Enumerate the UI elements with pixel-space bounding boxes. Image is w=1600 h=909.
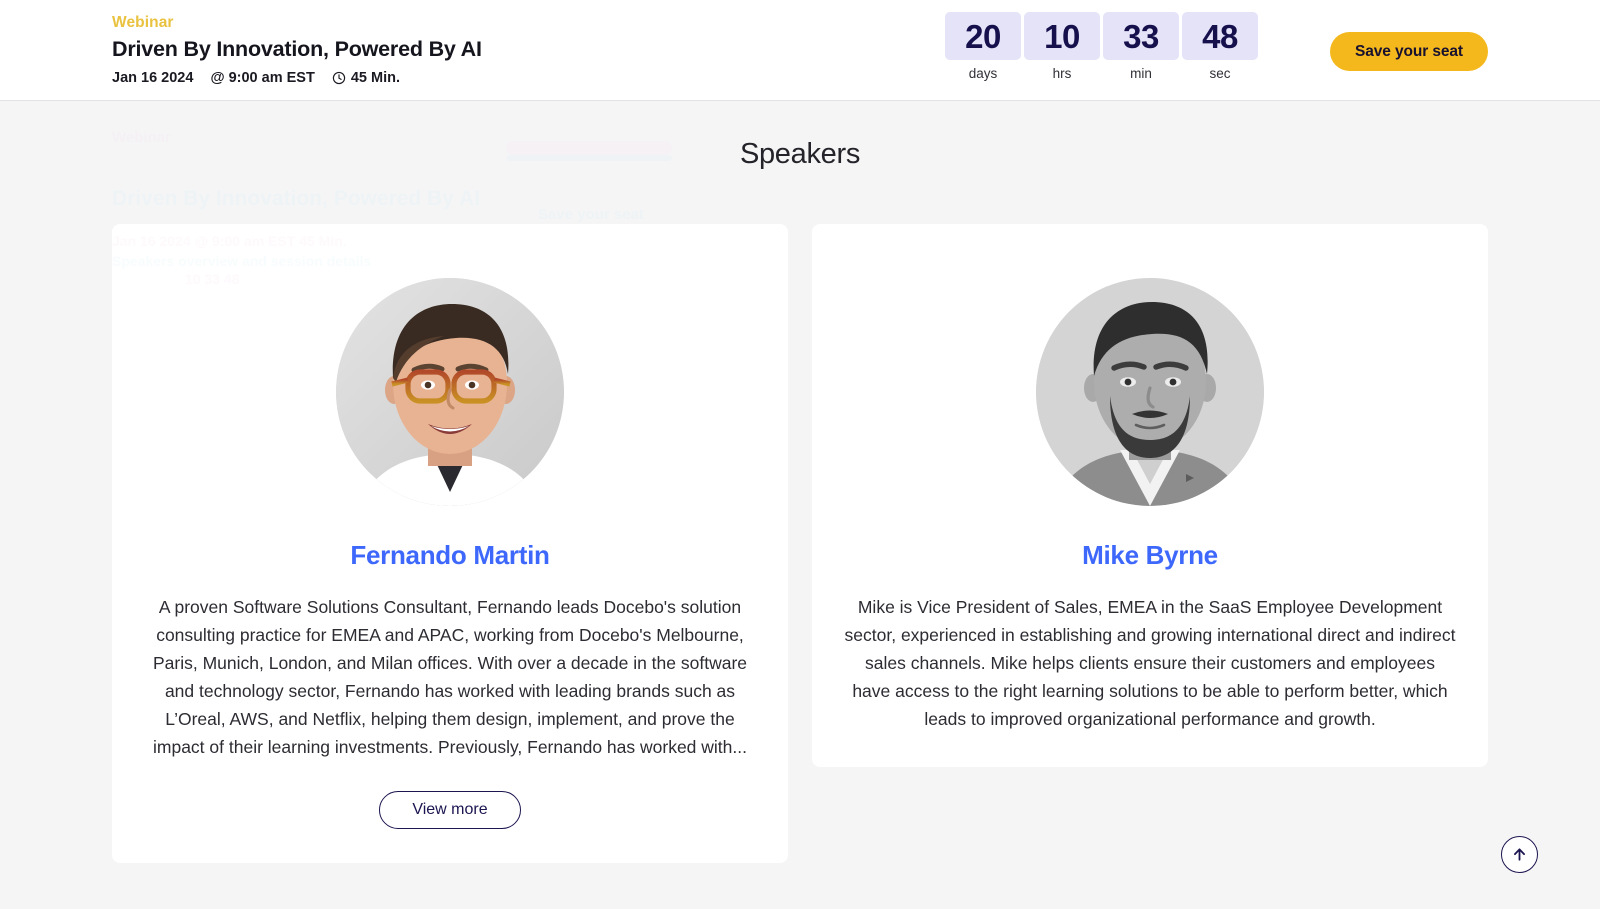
- view-more-button-fernando-martin[interactable]: View more: [379, 791, 520, 829]
- ghost-text-0: Driven By Innovation, Powered By AI: [112, 187, 480, 211]
- speaker-name-fernando-martin: Fernando Martin: [350, 540, 549, 571]
- page-header: Webinar Driven By Innovation, Powered By…: [0, 0, 1600, 101]
- webinar-duration-text: 45 Min.: [351, 70, 400, 86]
- save-your-seat-button[interactable]: Save your seat: [1330, 32, 1488, 71]
- scroll-to-top-button[interactable]: [1501, 836, 1538, 873]
- webinar-time-text: @ 9:00 am EST: [210, 70, 314, 86]
- speaker-photo-mike-byrne: [1036, 278, 1264, 506]
- speaker-card-fernando-martin: Fernando Martin A proven Software Soluti…: [112, 224, 788, 863]
- countdown-min-value: 33: [1103, 12, 1179, 60]
- webinar-info: Webinar Driven By Innovation, Powered By…: [112, 13, 482, 86]
- clock-icon: [332, 71, 346, 85]
- countdown-unit-hrs: 10 hrs: [1024, 12, 1100, 81]
- speakers-card-grid: Fernando Martin A proven Software Soluti…: [112, 224, 1488, 863]
- countdown-unit-min: 33 min: [1103, 12, 1179, 81]
- countdown-sec-label: sec: [1209, 67, 1230, 81]
- countdown-unit-days: 20 days: [945, 12, 1021, 81]
- speaker-bio-mike-byrne: Mike is Vice President of Sales, EMEA in…: [844, 593, 1456, 733]
- speaker-bio-fernando-martin: A proven Software Solutions Consultant, …: [144, 593, 756, 761]
- webinar-duration: 45 Min.: [332, 70, 400, 86]
- countdown-min-label: min: [1130, 67, 1152, 81]
- speaker-name-mike-byrne: Mike Byrne: [1082, 540, 1218, 571]
- page-title: Driven By Innovation, Powered By AI: [112, 35, 482, 64]
- section-title-speakers: Speakers: [0, 138, 1600, 171]
- countdown-hrs-value: 10: [1024, 12, 1100, 60]
- arrow-up-icon: [1510, 845, 1529, 864]
- countdown-hrs-label: hrs: [1053, 67, 1072, 81]
- page-body: Driven By Innovation, Powered By AIWebin…: [0, 101, 1600, 909]
- speaker-card-mike-byrne: Mike Byrne Mike is Vice President of Sal…: [812, 224, 1488, 767]
- webinar-date-text: Jan 16 2024: [112, 70, 193, 86]
- webinar-meta-row: Jan 16 2024 @ 9:00 am EST 45 Min.: [112, 70, 482, 86]
- ghost-text-2: Save your seat: [538, 206, 644, 223]
- countdown-sec-value: 48: [1182, 12, 1258, 60]
- countdown-unit-sec: 48 sec: [1182, 12, 1258, 81]
- webinar-date: Jan 16 2024: [112, 70, 193, 86]
- countdown-days-label: days: [969, 67, 998, 81]
- speaker-photo-fernando-martin: [336, 278, 564, 506]
- countdown-days-value: 20: [945, 12, 1021, 60]
- webinar-eyebrow-label: Webinar: [112, 13, 482, 33]
- countdown-timer: 20 days 10 hrs 33 min 48 sec: [945, 12, 1258, 81]
- webinar-time: @ 9:00 am EST: [210, 70, 314, 86]
